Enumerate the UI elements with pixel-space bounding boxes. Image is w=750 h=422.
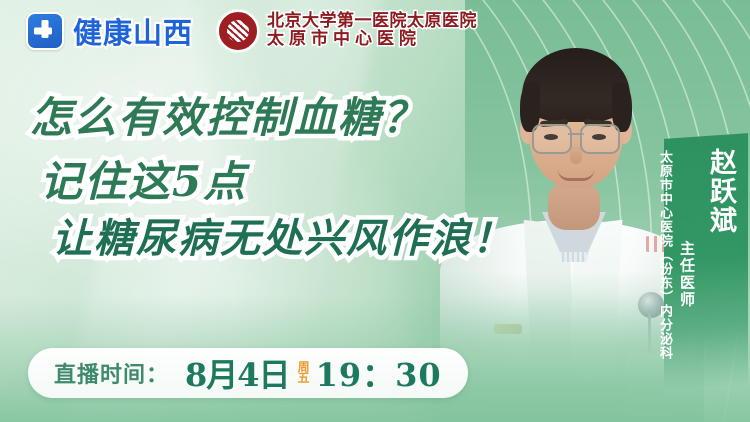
speaker-name-panel: 赵跃斌 主任医师 太原市中心医院（汾东）内分泌科 xyxy=(664,133,748,407)
speaker-name-panel-inner: 赵跃斌 主任医师 太原市中心医院（汾东）内分泌科 xyxy=(670,148,740,404)
hospital-name-lines: 北京大学第一医院太原医院 太原市中心医院 xyxy=(267,13,477,49)
hospital-seal-icon xyxy=(217,10,259,52)
broadcast-time: 19：30 xyxy=(316,350,442,396)
hospital-lockup: 北京大学第一医院太原医院 太原市中心医院 xyxy=(217,10,477,52)
headline-line-2: 记住这5点 xyxy=(40,154,546,210)
brand-lockup: 健康山西 xyxy=(26,10,193,52)
hospital-name-line2: 太原市中心医院 xyxy=(267,31,477,49)
medical-cross-icon xyxy=(26,12,64,50)
brand-name: 健康山西 xyxy=(73,10,193,52)
live-stream-poster: 健康山西 北京大学第一医院太原医院 太原市中心医院 怎么有效控制血糖？ 记住这5… xyxy=(0,0,750,422)
headline-line-1: 怎么有效控制血糖？ xyxy=(30,92,546,144)
speaker-title: 主任医师 xyxy=(677,240,698,404)
glasses-lens-right xyxy=(580,124,620,154)
poster-header: 健康山西 北京大学第一医院太原医院 太原市中心医院 xyxy=(0,0,750,62)
headline-block: 怎么有效控制血糖？ 记住这5点 让糖尿病无处兴风作浪！ xyxy=(26,92,546,266)
doctor-mouth xyxy=(558,170,594,181)
broadcast-time-banner: 直播时间： 8月4日 周 五 19：30 xyxy=(28,348,468,398)
doctor-nose xyxy=(570,142,582,164)
broadcast-date: 8月4日 xyxy=(185,350,290,396)
broadcast-time-label: 直播时间： xyxy=(54,357,169,389)
broadcast-weekday-char2: 五 xyxy=(298,373,310,384)
speaker-name: 赵跃斌 xyxy=(701,148,740,404)
doctor-neck xyxy=(548,182,600,230)
headline-line-3: 让糖尿病无处兴风作浪！ xyxy=(52,212,546,266)
broadcast-weekday: 周 五 xyxy=(298,362,310,385)
speaker-department: 太原市中心医院（汾东）内分泌科 xyxy=(655,150,674,404)
